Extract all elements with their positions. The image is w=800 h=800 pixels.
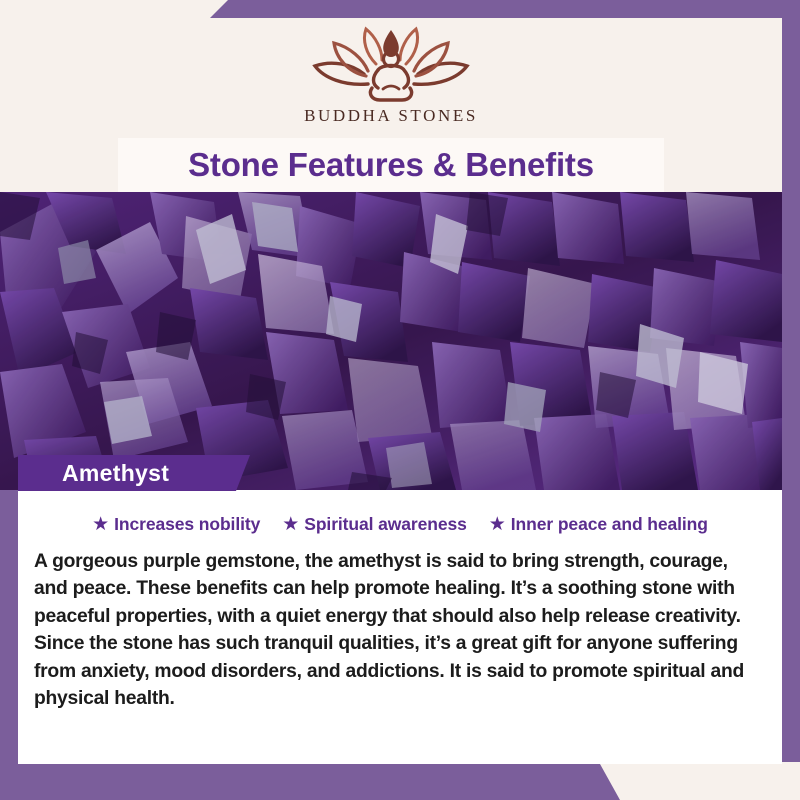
content-inner: ★ Increases nobility ★ Spiritual awarene… bbox=[18, 496, 782, 764]
amethyst-crystal-cluster-photo bbox=[0, 192, 782, 490]
benefits-list: ★ Increases nobility ★ Spiritual awarene… bbox=[18, 496, 782, 535]
title-band: Stone Features & Benefits bbox=[0, 138, 782, 192]
frame-left-bar bbox=[0, 490, 18, 780]
frame-right-bar bbox=[782, 0, 800, 762]
stone-name-label: Amethyst bbox=[62, 460, 169, 487]
page-title: Stone Features & Benefits bbox=[188, 146, 594, 184]
brand-header: BUDDHA STONES bbox=[0, 18, 782, 138]
frame-top-bar bbox=[0, 0, 800, 18]
stone-name-banner: Amethyst bbox=[18, 455, 250, 491]
stone-description: A gorgeous purple gemstone, the amethyst… bbox=[34, 548, 766, 712]
star-icon: ★ bbox=[489, 515, 506, 534]
stone-benefits-infographic: BUDDHA STONES Stone Features & Benefits bbox=[0, 0, 800, 800]
benefit-label: Inner peace and healing bbox=[511, 514, 708, 535]
title-plaque: Stone Features & Benefits bbox=[118, 138, 664, 192]
star-icon: ★ bbox=[282, 515, 299, 534]
benefit-item-2: ★ Spiritual awareness bbox=[282, 514, 467, 535]
lotus-meditation-figure-icon bbox=[306, 26, 476, 104]
brand-wordmark: BUDDHA STONES bbox=[304, 106, 478, 126]
benefit-item-3: ★ Inner peace and healing bbox=[489, 514, 708, 535]
benefit-label: Increases nobility bbox=[114, 514, 260, 535]
benefit-item-1: ★ Increases nobility bbox=[92, 514, 260, 535]
frame-bottom-bar bbox=[0, 764, 800, 800]
content-panel: ★ Increases nobility ★ Spiritual awarene… bbox=[18, 490, 782, 764]
star-icon: ★ bbox=[92, 515, 109, 534]
benefit-label: Spiritual awareness bbox=[304, 514, 466, 535]
